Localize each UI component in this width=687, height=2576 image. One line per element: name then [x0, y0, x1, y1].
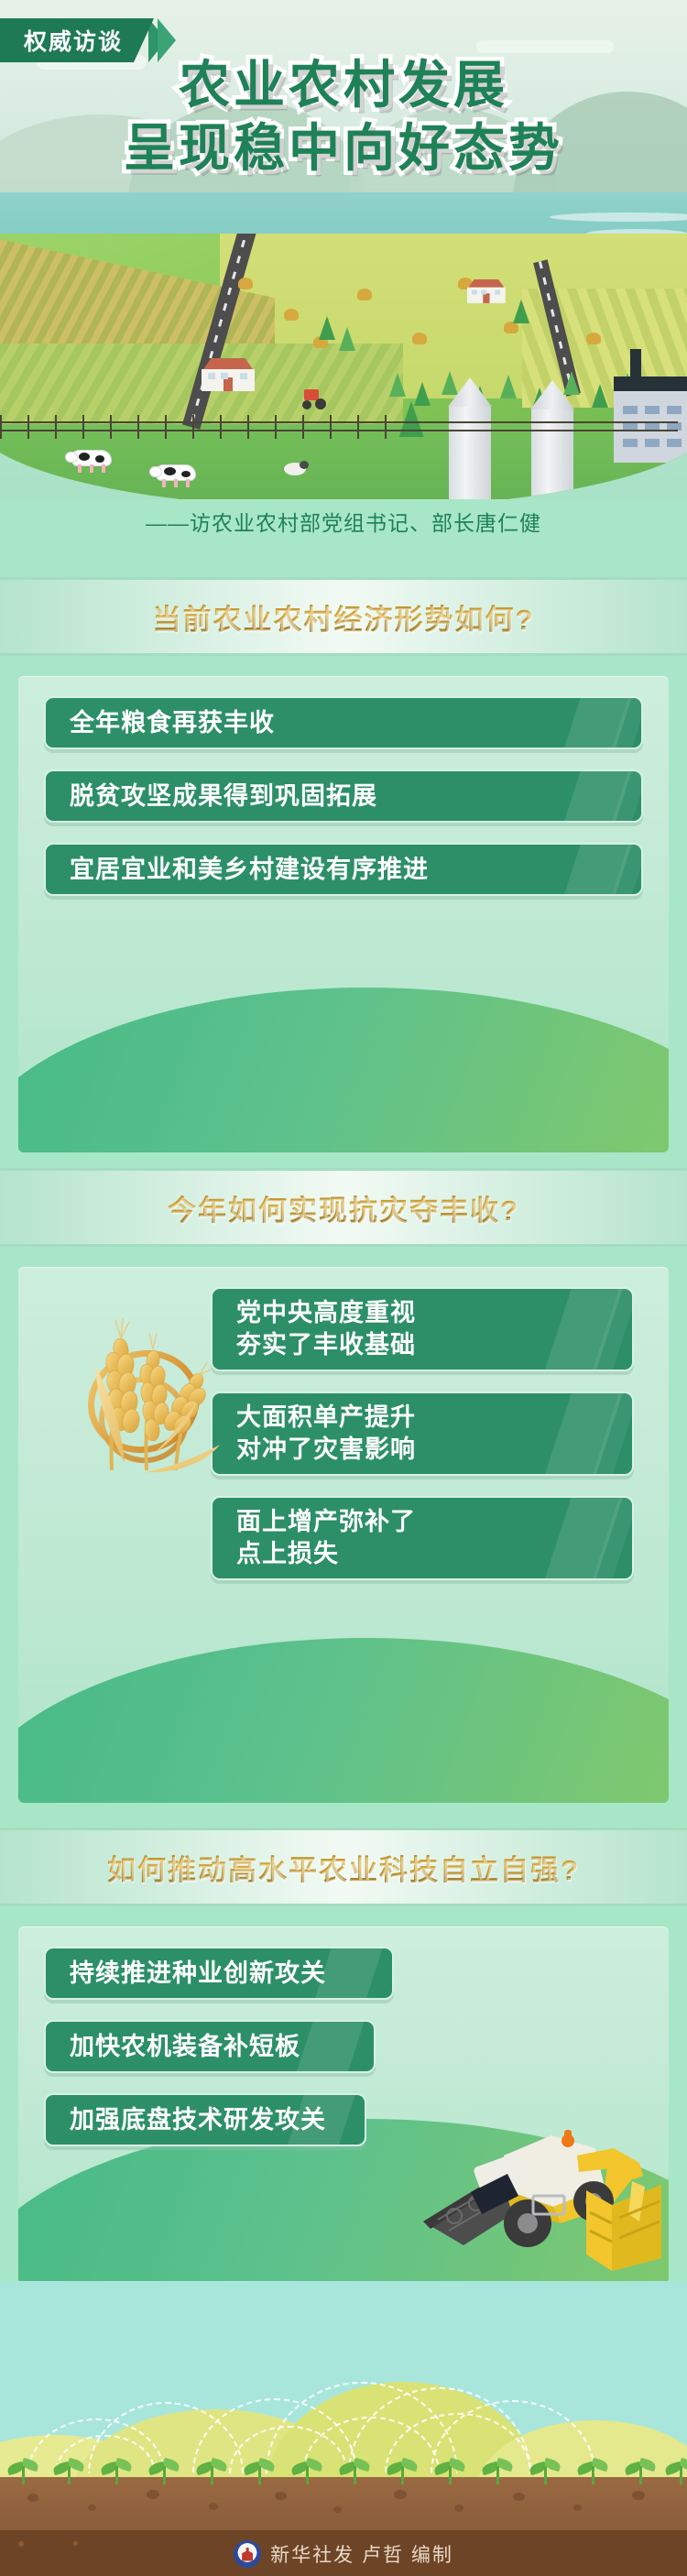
- xinhua-logo-icon: [234, 2540, 261, 2568]
- soil-layer: [0, 2477, 687, 2532]
- section-2-panel: 党中央高度重视 夯实了丰收基础 大面积单产提升 对冲了灾害影响 面上增产弥补了 …: [0, 1247, 687, 1819]
- harvester-illustration: [416, 2084, 663, 2276]
- bullet-label: 宜居宜业和美乡村建设有序推进: [70, 854, 429, 886]
- sheep-icon: [284, 461, 308, 476]
- soil-pebble: [454, 2505, 463, 2512]
- section-1-bullet-list: 全年粮食再获丰收 脱贫攻坚成果得到巩固拓展 宜居宜业和美乡村建设有序推进: [18, 676, 669, 940]
- section-3: 如何推动高水平农业科技自立自强?: [0, 1828, 687, 2291]
- seedling-icon: [434, 2453, 465, 2484]
- section-2-card: 党中央高度重视 夯实了丰收基础 大面积单产提升 对冲了灾害影响 面上增产弥补了 …: [18, 1267, 669, 1803]
- seedling-icon: [196, 2453, 227, 2484]
- bullet-item[interactable]: 宜居宜业和美乡村建设有序推进: [44, 843, 643, 896]
- seedling-icon: [387, 2453, 418, 2484]
- soil-pebble: [275, 2492, 287, 2500]
- section-3-panel: 持续推进种业创新攻关 加快农机装备补短板 加强底盘技术研发攻关: [0, 1906, 687, 2291]
- seedling-icon: [148, 2453, 180, 2484]
- section-1-header: 当前农业农村经济形势如何?: [0, 577, 687, 656]
- bullet-label: 脱贫攻坚成果得到巩固拓展: [70, 780, 377, 813]
- pine-tree-icon: [442, 371, 458, 395]
- bullet-item[interactable]: 加强底盘技术研发攻关: [44, 2093, 366, 2146]
- cloud-shape: [476, 40, 614, 53]
- soil-pebble: [573, 2505, 582, 2511]
- seedling-icon: [625, 2453, 656, 2484]
- haystack-icon: [357, 289, 372, 300]
- section-1-panel: 全年粮食再获丰收 脱贫攻坚成果得到巩固拓展 宜居宜业和美乡村建设有序推进: [0, 656, 687, 1169]
- infographic-poster: ➤ ➤: [0, 0, 687, 2576]
- bullet-item[interactable]: 大面积单产提升 对冲了灾害影响: [211, 1392, 634, 1476]
- section-3-card: 持续推进种业创新攻关 加快农机装备补短板 加强底盘技术研发攻关: [18, 1927, 669, 2284]
- hill-decoration: [18, 988, 669, 1152]
- footer-bar: 新华社发 卢哲 编制: [0, 2532, 687, 2576]
- soil-pebble: [27, 2494, 38, 2502]
- bullet-item[interactable]: 持续推进种业创新攻关: [44, 1947, 394, 2000]
- section-2-header: 今年如何实现抗灾夺丰收?: [0, 1168, 687, 1247]
- bullet-label: 面上增产弥补了 点上损失: [236, 1506, 416, 1569]
- haystack-icon: [412, 333, 427, 344]
- pine-tree-icon: [513, 300, 529, 323]
- pine-tree-icon: [319, 316, 335, 340]
- section-3-heading-text: 如何推动高水平农业科技自立自强?: [107, 1847, 580, 1888]
- seedling-icon: [244, 2453, 275, 2484]
- bullet-label: 党中央高度重视 夯实了丰收基础: [236, 1297, 416, 1360]
- section-3-header: 如何推动高水平农业科技自立自强?: [0, 1828, 687, 1906]
- section-1-card: 全年粮食再获丰收 脱贫攻坚成果得到巩固拓展 宜居宜业和美乡村建设有序推进: [18, 676, 669, 1152]
- pine-tree-icon: [389, 373, 406, 397]
- bullet-label: 加强底盘技术研发攻关: [70, 2104, 326, 2136]
- farmhouse-icon: [467, 279, 506, 303]
- bullet-item[interactable]: 加快农机装备补短板: [44, 2020, 376, 2073]
- seedling-icon: [53, 2453, 84, 2484]
- section-1-heading-text: 当前农业农村经济形势如何?: [153, 596, 535, 638]
- seedling-icon: [7, 2453, 38, 2484]
- soil-pebble: [88, 2505, 96, 2511]
- seedling-icon: [482, 2453, 513, 2484]
- footer-credit-text: 新华社发 卢哲 编制: [270, 2540, 453, 2568]
- pine-tree-icon: [592, 384, 608, 408]
- seedling-icon: [577, 2453, 608, 2484]
- hero-banner: ➤ ➤: [0, 0, 687, 499]
- hill-decoration: [18, 1638, 669, 1803]
- section-2-heading-text: 今年如何实现抗灾夺丰收?: [168, 1187, 519, 1228]
- pine-tree-icon: [563, 371, 580, 395]
- cow-icon: [156, 464, 196, 486]
- title-line-2: 呈现稳中向好态势: [124, 116, 563, 180]
- seedling-icon: [101, 2453, 132, 2484]
- seedling-icon: [291, 2453, 322, 2484]
- soil-pebble: [333, 2506, 342, 2513]
- seedling-icon: [529, 2453, 561, 2484]
- soil-pebble: [394, 2490, 407, 2499]
- haystack-icon: [586, 333, 601, 344]
- interview-credit: ——访农业农村部党组书记、部长唐仁健: [0, 506, 687, 537]
- section-2: 今年如何实现抗灾夺丰收?: [0, 1168, 687, 1819]
- bullet-item[interactable]: 全年粮食再获丰收: [44, 696, 643, 749]
- wheat-illustration: [57, 1305, 231, 1489]
- soil-pebble: [632, 2491, 645, 2500]
- bullet-item[interactable]: 面上增产弥补了 点上损失: [211, 1496, 634, 1580]
- seedling-icon: [665, 2453, 687, 2484]
- haystack-icon: [284, 309, 299, 321]
- pine-tree-icon: [500, 375, 517, 398]
- fence-line: [0, 415, 678, 439]
- soil-pebble: [513, 2493, 525, 2501]
- farm-landscape: [0, 234, 687, 499]
- soil-pebble: [209, 2503, 218, 2510]
- seedling-icon: [339, 2453, 370, 2484]
- bullet-label: 大面积单产提升 对冲了灾害影响: [236, 1402, 416, 1465]
- bullet-item[interactable]: 脱贫攻坚成果得到巩固拓展: [44, 770, 643, 823]
- tractor-icon: [300, 389, 328, 409]
- section-1: 当前农业农村经济形势如何? 全年粮食再获丰收 脱贫攻坚成果得到巩固拓展: [0, 577, 687, 1169]
- farmhouse-icon: [202, 358, 255, 391]
- bullet-label: 持续推进种业创新攻关: [70, 1958, 326, 1990]
- bullet-label: 加快农机装备补短板: [70, 2031, 300, 2063]
- bullet-item[interactable]: 党中央高度重视 夯实了丰收基础: [211, 1287, 634, 1371]
- soil-pebble: [147, 2490, 159, 2499]
- bottom-scene: 新华社发 卢哲 编制: [0, 2281, 687, 2576]
- pine-tree-icon: [339, 327, 355, 351]
- cow-icon: [71, 450, 112, 472]
- title-line-1: 农业农村发展: [179, 53, 508, 116]
- page-title: 农业农村发展 呈现稳中向好态势: [0, 53, 687, 180]
- bullet-label: 全年粮食再获丰收: [70, 707, 275, 739]
- haystack-icon: [238, 278, 253, 289]
